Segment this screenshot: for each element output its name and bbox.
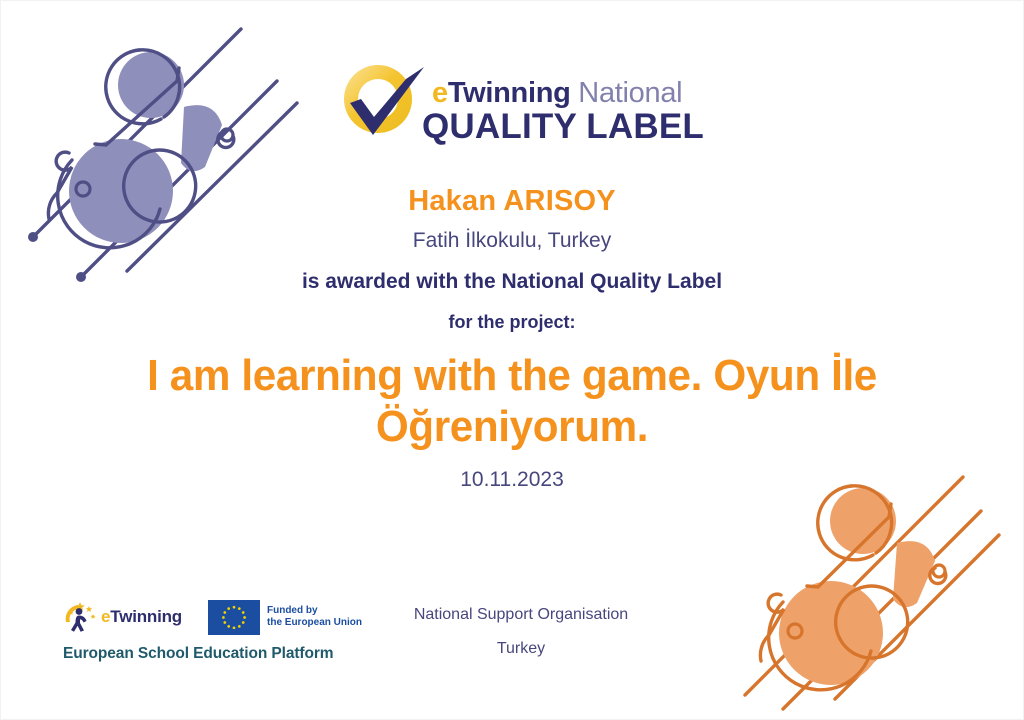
etwinning-wordmark: eTwinning (101, 607, 182, 627)
quality-label-q-check-mark-icon (332, 59, 428, 153)
logo-quality-label-text: QUALITY LABEL (422, 109, 704, 144)
certificate-page: eTwinning National QUALITY LABEL Hakan A… (0, 0, 1024, 720)
national-support-organisation-block: National Support Organisation Turkey (337, 607, 705, 657)
awarded-statement: is awarded with the National Quality Lab… (1, 267, 1023, 296)
logo-twinning-word: Twinning (448, 77, 571, 109)
certificate-body: Hakan ARISOY Fatih İlkokulu, Turkey is a… (1, 183, 1023, 493)
etwinning-figure-icon (63, 602, 97, 632)
etwinning-e-letter: e (101, 607, 110, 626)
logo-national-word: National (571, 77, 683, 109)
logo-line-one: eTwinning National (432, 79, 682, 108)
national-support-organisation-label: National Support Organisation (337, 607, 705, 623)
recipient-name: Hakan ARISOY (1, 183, 1023, 221)
european-union-flag-icon (208, 600, 260, 635)
for-the-project-label: for the project: (1, 310, 1023, 335)
national-support-organisation-country: Turkey (337, 641, 705, 657)
quality-label-logo: eTwinning National QUALITY LABEL (332, 57, 692, 155)
recipient-school: Fatih İlkokulu, Turkey (1, 227, 1023, 255)
project-title: I am learning with the game. Oyun İle Öğ… (80, 350, 944, 452)
etwinning-twinning-text: Twinning (110, 607, 182, 626)
etwinning-logo: eTwinning (63, 602, 182, 632)
award-date: 10.11.2023 (1, 466, 1023, 493)
logo-e-letter: e (432, 77, 448, 109)
